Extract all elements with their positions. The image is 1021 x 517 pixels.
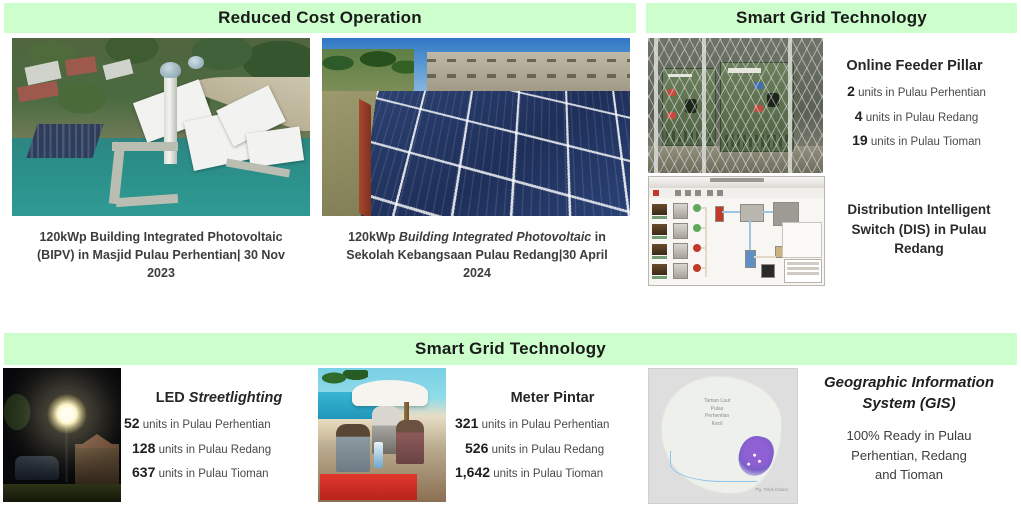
stat-text: units in Pulau Perhentian (858, 87, 986, 99)
caption-line: 120kWp Building Integrated Photovoltaic … (322, 228, 632, 246)
caption-line: Switch (DIS) in Pulau (824, 220, 1014, 240)
section-header-smart-grid-bottom: Smart Grid Technology (4, 333, 1017, 365)
stat-text: units in Pulau Tioman (493, 468, 603, 480)
online-feeder-pillar-title: Online Feeder Pillar (812, 58, 1017, 74)
map-asset-point (758, 460, 762, 464)
scada-legend-row (787, 272, 819, 275)
scada-feeder-label (652, 216, 667, 219)
stat-number: 1,642 (455, 464, 490, 480)
stat-number: 128 (132, 440, 155, 456)
gis-title: Geographic Information System (GIS) (800, 372, 1018, 414)
led-streetlighting-title: LED Streetlighting (124, 390, 314, 406)
scada-switch-indicator (693, 264, 701, 272)
scada-feeder-label (652, 236, 667, 239)
village-building (103, 59, 134, 80)
caption-prefix: 120kWp (348, 230, 399, 244)
scada-feeder-label (652, 276, 667, 279)
stat-text: units in Pulau Redang (866, 112, 979, 124)
mosque-roof (246, 126, 304, 167)
map-label-line: Kecil (687, 421, 746, 429)
map-gis-island-coverage: Taman Laut Pulau Perhentian Kecil Pg. Te… (648, 368, 798, 504)
stat-row: 2 units in Pulau Perhentian (816, 79, 1017, 104)
scada-feeder-label (652, 256, 667, 259)
scada-wire (701, 267, 707, 269)
scada-device-block (745, 250, 756, 268)
gis-title-line: System (GIS) (800, 393, 1018, 414)
section-header-reduced-cost-label: Reduced Cost Operation (218, 8, 422, 28)
section-header-smart-grid-top: Smart Grid Technology (646, 3, 1017, 33)
solar-panel-array (356, 91, 630, 216)
stat-number: 19 (852, 132, 868, 148)
scada-wire (754, 256, 776, 258)
stat-row: 4 units in Pulau Redang (816, 104, 1017, 129)
scada-toolbar-icon[interactable] (717, 190, 723, 196)
scada-wire (701, 227, 707, 229)
stat-text: units in Pulau Tioman (871, 136, 981, 148)
stat-number: 52 (124, 415, 140, 431)
scada-legend (784, 259, 822, 283)
meter-pintar-title: Meter Pintar (455, 390, 650, 406)
stat-number: 526 (465, 440, 488, 456)
stat-text: units in Pulau Redang (492, 444, 605, 456)
aerial-photo-masjid-pulau-perhentian (12, 38, 310, 216)
chain-link-fence (648, 38, 823, 173)
caption-line: Sekolah Kebangsaan Pulau Redang|30 April (322, 246, 632, 264)
gis-body-line: and Tioman (800, 465, 1018, 485)
gis-body-line: 100% Ready in Pulau (800, 426, 1018, 446)
jetty-walkway (116, 194, 178, 207)
parked-car (15, 456, 59, 480)
caption-bipv-redang: 120kWp Building Integrated Photovoltaic … (322, 228, 632, 282)
section-header-smart-grid-bottom-label: Smart Grid Technology (415, 339, 606, 359)
scada-feeder-icon (652, 264, 667, 275)
photo-led-streetlight-at-night (3, 368, 121, 502)
red-table (320, 474, 417, 500)
scada-breaker (715, 206, 724, 222)
scada-switch-indicator (693, 244, 701, 252)
stat-row: 52 units in Pulau Perhentian (124, 411, 314, 436)
map-label-line: Taman Laut (687, 398, 746, 406)
jetty-walkway (112, 142, 178, 151)
stat-text: units in Pulau Perhentian (143, 419, 271, 431)
caption-italic: Building Integrated Photovoltaic (399, 230, 591, 244)
jetty-walkway (109, 142, 125, 205)
dark-trees (3, 378, 49, 448)
scada-wire (749, 220, 751, 250)
stat-row: 526 units in Pulau Redang (455, 436, 650, 461)
stat-row: 1,642 units in Pulau Tioman (455, 460, 650, 485)
person-seated (396, 420, 424, 464)
grass-foreground (3, 484, 121, 502)
caption-line: Redang (824, 239, 1014, 259)
scada-switch-indicator (693, 204, 701, 212)
gis-title-line: Geographic Information (800, 372, 1018, 393)
house-silhouette (75, 444, 119, 484)
scada-diagram-canvas (649, 198, 824, 285)
led-title-italic: Streetlighting (189, 390, 282, 406)
stat-number: 2 (847, 83, 855, 99)
gis-body-line: Perhentian, Redang (800, 446, 1018, 466)
screenshot-scada-distribution-intelligent-switch (648, 176, 825, 286)
stat-row: 128 units in Pulau Redang (124, 436, 314, 461)
section-header-reduced-cost: Reduced Cost Operation (4, 3, 636, 33)
caption-dis-pulau-redang: Distribution Intelligent Switch (DIS) in… (824, 200, 1014, 259)
map-place-label: Taman Laut Pulau Perhentian Kecil (687, 398, 746, 428)
scada-legend-row (787, 267, 819, 270)
scada-switch-indicator (693, 224, 701, 232)
scada-side-panel (782, 222, 822, 258)
led-streetlighting-stats: LED Streetlighting 52 units in Pulau Per… (124, 390, 314, 485)
scada-toolbar-icon[interactable] (707, 190, 713, 196)
smart-meter-device (374, 442, 383, 468)
stat-number: 4 (855, 108, 863, 124)
stat-text: units in Pulau Perhentian (482, 419, 610, 431)
scada-wire (701, 247, 707, 249)
scada-transformer-icon (673, 263, 688, 279)
stat-text: units in Pulau Tioman (159, 468, 269, 480)
scada-transformer-icon (673, 243, 688, 259)
scada-window-title (710, 178, 764, 182)
map-asset-point (747, 463, 751, 467)
building-roofs-layer (12, 38, 310, 216)
mosque-dome (188, 56, 204, 69)
scada-meter-block (761, 264, 775, 278)
beach-umbrella (352, 380, 428, 406)
caption-suffix: in (591, 230, 606, 244)
gis-text-block: Geographic Information System (GIS) 100%… (800, 372, 1018, 485)
minaret-dome (160, 62, 181, 78)
stat-row: 19 units in Pulau Tioman (816, 128, 1017, 153)
caption-bipv-perhentian: 120kWp Building Integrated Photovoltaic … (10, 228, 312, 282)
caption-line: 2023 (10, 264, 312, 282)
scada-legend-row (787, 262, 819, 265)
photo-solar-panel-array-sekolah-kebangsaan-pulau-redang (322, 38, 630, 216)
stat-row: 321 units in Pulau Perhentian (455, 411, 650, 436)
caption-line: (BIPV) in Masjid Pulau Perhentian| 30 No… (10, 246, 312, 264)
online-feeder-pillar-rows: 2 units in Pulau Perhentian 4 units in P… (812, 79, 1017, 153)
scada-wire (762, 211, 773, 213)
stat-number: 321 (455, 415, 478, 431)
scada-transformer-icon (673, 203, 688, 219)
scada-feeder-icon (652, 224, 667, 235)
caption-line: Distribution Intelligent (824, 200, 1014, 220)
section-header-smart-grid-top-label: Smart Grid Technology (736, 8, 927, 28)
map-label-line: Perhentian (687, 413, 746, 421)
stat-number: 637 (132, 464, 155, 480)
scada-substation-block (740, 204, 764, 222)
scada-toolbar-icon[interactable] (685, 190, 691, 196)
person-seated (336, 424, 370, 472)
stat-text: units in Pulau Redang (159, 444, 272, 456)
meter-pintar-stats: Meter Pintar 321 units in Pulau Perhenti… (455, 390, 650, 485)
caption-line: 120kWp Building Integrated Photovoltaic (10, 228, 312, 246)
scada-feeder-icon (652, 244, 667, 255)
photo-green-feeder-pillar-cabinets (648, 38, 823, 173)
scada-toolbar-icon[interactable] (653, 190, 659, 196)
streetlight-glow (47, 394, 87, 434)
map-location-tag: Pg. Teluk Dalam (755, 487, 788, 492)
led-title-prefix: LED (156, 390, 189, 406)
village-building (17, 81, 59, 103)
scada-wire (701, 207, 707, 209)
map-label-line: Pulau (687, 406, 746, 414)
caption-line: 2024 (322, 264, 632, 282)
scada-feeder-icon (652, 204, 667, 215)
streetlight-pole (65, 426, 68, 482)
online-feeder-pillar-stats: Online Feeder Pillar 2 units in Pulau Pe… (812, 58, 1017, 153)
scada-toolbar-icon[interactable] (695, 190, 701, 196)
village-building (65, 56, 97, 76)
stat-row: 637 units in Pulau Tioman (124, 460, 314, 485)
photo-people-at-beach-restaurant (318, 368, 446, 502)
scada-wire (722, 211, 740, 213)
scada-transformer-icon (673, 223, 688, 239)
gis-body: 100% Ready in Pulau Perhentian, Redang a… (800, 426, 1018, 485)
scada-toolbar-icon[interactable] (675, 190, 681, 196)
red-roof-edge-rail (359, 99, 371, 216)
map-asset-point (753, 453, 757, 457)
